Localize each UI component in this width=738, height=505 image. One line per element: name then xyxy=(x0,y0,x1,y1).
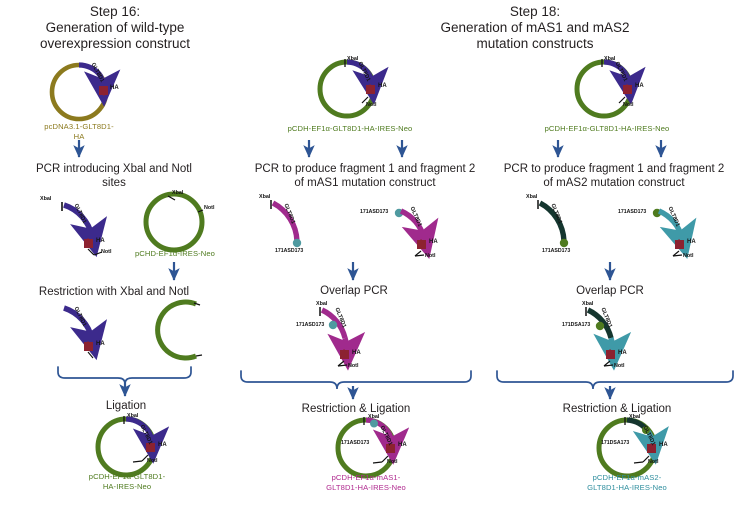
step-label-text: Overlap PCR xyxy=(546,284,674,298)
plasmid-pchd-ef1a-ires-neo xyxy=(146,194,203,250)
mutation-label-overlap: 171ASD173 xyxy=(296,322,324,328)
plasmid-label-line: HA xyxy=(19,132,139,142)
fragment-glt8d1-ha-col1 xyxy=(62,202,102,255)
ha-tag-label: HA xyxy=(635,83,644,89)
step-label-text: PCR to produce fragment 1 and fragment 2… xyxy=(489,162,738,190)
mutation-label-final: 171DSA173 xyxy=(601,440,629,446)
column-1-title: Step 16: Generation of wild-type overexp… xyxy=(0,4,230,52)
fragment-2-mas1 xyxy=(395,209,426,256)
plasmid-label-line: pCDH-EF1α-GLT8D1- xyxy=(61,472,193,482)
ha-tag-label: HA xyxy=(158,442,167,448)
site-label-xbal: Xbal xyxy=(368,414,379,420)
ha-tag-label: HA xyxy=(378,83,387,89)
site-label-xbal: Xbal xyxy=(582,301,593,307)
site-label-xbal: Xbal xyxy=(127,413,138,419)
site-label-notl: Notl xyxy=(387,459,397,465)
figure-canvas: Step 16: Generation of wild-type overexp… xyxy=(0,0,738,505)
restricted-backbone-col1 xyxy=(158,302,202,358)
site-label-notl: Notl xyxy=(366,102,376,108)
step-label-restriction-ligation-mas1: Restriction & Ligation xyxy=(286,402,426,416)
plasmid-label-line: HA-IRES-Neo xyxy=(61,482,193,492)
ha-tag-label: HA xyxy=(618,350,627,356)
site-label-xbal: Xbal xyxy=(604,56,615,62)
step-label-pcr-xbal-notl: PCR introducing Xbal and Notl sites xyxy=(0,162,230,190)
gene-label: GLT8D1 xyxy=(139,424,154,446)
step-label-restriction-ligation-mas2: Restriction & Ligation xyxy=(547,402,687,416)
gene-label: GLT8D1 xyxy=(409,206,423,228)
plasmid-label-col3-source: pCDH-EF1α-GLT8D1-HA-IRES-Neo xyxy=(519,124,695,134)
plasmid-label-line: pCDH-EF1α-GLT8D1-HA-IRES-Neo xyxy=(519,124,695,134)
site-label-notl: Notl xyxy=(101,249,111,255)
column-2-title: Step 18: Generation of mAS1 and mAS2 mut… xyxy=(370,4,700,52)
mutation-label-fragment2: 171ASD173 xyxy=(618,209,646,215)
fragment-2-mas2 xyxy=(653,209,684,256)
plasmid-label-mas2-final: pCDH-EF1α-mAS2- GLT8D1-HA-IRES-Neo xyxy=(557,473,697,492)
plasmid-label-pchd: pCHD-EF1α-IRES-Neo xyxy=(119,249,231,259)
mutation-label-fragment1: 171ASD173 xyxy=(275,248,303,254)
gene-label: GLT8D1 xyxy=(642,425,657,447)
title-line: Generation of mAS1 and mAS2 xyxy=(370,20,700,36)
plasmid-label-line: pCDH-EF1α-mAS1- xyxy=(296,473,436,483)
gene-label: GLT8D1 xyxy=(599,307,612,329)
plasmid-label-line: pCDH-EF1α-mAS2- xyxy=(557,473,697,483)
gene-label: GLT8D1 xyxy=(90,62,105,83)
ha-tag-label: HA xyxy=(96,341,105,347)
gene-label: GLT8D1 xyxy=(73,203,88,225)
step-label-text: PCR introducing Xbal and Notl sites xyxy=(0,162,230,190)
mutation-label-fragment2: 171ASD173 xyxy=(360,209,388,215)
title-line: Step 16: xyxy=(0,4,230,20)
ha-tag-label: HA xyxy=(96,238,105,244)
site-label-xbal: Xbal xyxy=(259,194,270,200)
plasmid-label-line: pcDNA3.1-GLT8D1- xyxy=(19,122,139,132)
title-line: overexpression construct xyxy=(0,36,230,52)
site-label-notl: Notl xyxy=(614,363,624,369)
ha-tag-label: HA xyxy=(687,239,696,245)
gene-label: GLT8D1 xyxy=(614,61,629,83)
site-label-xbal: Xbal xyxy=(526,194,537,200)
site-label-notl: Notl xyxy=(147,458,157,464)
site-label-notl: Notl xyxy=(683,253,693,259)
title-line: Generation of wild-type xyxy=(0,20,230,36)
step-label-text: Ligation xyxy=(60,399,192,413)
gene-label: GLT8D1 xyxy=(282,203,295,225)
site-label-notl: Notl xyxy=(348,363,358,369)
plasmid-label-final-col1: pCDH-EF1α-GLT8D1- HA-IRES-Neo xyxy=(61,472,193,491)
plasmid-label-line: GLT8D1-HA-IRES-Neo xyxy=(557,483,697,493)
ha-tag-label: HA xyxy=(352,350,361,356)
step-label-pcr-mas1: PCR to produce fragment 1 and fragment 2… xyxy=(240,162,490,190)
title-line: Step 18: xyxy=(370,4,700,20)
plasmid-label-col2-source: pCDH-EF1α-GLT8D1-HA-IRES-Neo xyxy=(262,124,438,134)
site-label-notl: Notl xyxy=(425,253,435,259)
site-label-xbal: Xbal xyxy=(40,196,51,202)
step-label-text: Restriction & Ligation xyxy=(286,402,426,416)
plasmid-label-line: GLT8D1-HA-IRES-Neo xyxy=(296,483,436,493)
gene-label: GLT8D1 xyxy=(379,425,394,447)
mutation-label-final: 171ASD173 xyxy=(341,440,369,446)
gene-label: GLT8D1 xyxy=(357,61,372,83)
step-label-text: Restriction with Xbal and Notl xyxy=(0,285,230,299)
ha-tag-label: HA xyxy=(398,442,407,448)
site-label-notl: Notl xyxy=(623,102,633,108)
plasmid-label-line: pCHD-EF1α-IRES-Neo xyxy=(119,249,231,259)
gene-label: GLT8D1 xyxy=(73,306,88,328)
plasmid-pcdh-glt8d1-final xyxy=(98,416,155,475)
site-label-notl: Notl xyxy=(648,459,658,465)
plasmid-label-line: pCDH-EF1α-GLT8D1-HA-IRES-Neo xyxy=(262,124,438,134)
step-label-overlap-pcr-mas1: Overlap PCR xyxy=(290,284,418,298)
step-label-pcr-mas2: PCR to produce fragment 1 and fragment 2… xyxy=(489,162,738,190)
step-label-text: Restriction & Ligation xyxy=(547,402,687,416)
title-line: mutation constructs xyxy=(370,36,700,52)
site-label-notl: Notl xyxy=(204,205,214,211)
step-label-text: Overlap PCR xyxy=(290,284,418,298)
plasmid-label-mas1-final: pCDH-EF1α-mAS1- GLT8D1-HA-IRES-Neo xyxy=(296,473,436,492)
mutation-label-overlap: 171DSA173 xyxy=(562,322,590,328)
ha-tag-label: HA xyxy=(659,442,668,448)
gene-label: GLT8D1 xyxy=(549,203,562,225)
site-label-xbal: Xbal xyxy=(347,56,358,62)
step-label-overlap-pcr-mas2: Overlap PCR xyxy=(546,284,674,298)
plasmid-mas1-final xyxy=(338,417,395,476)
step-label-restriction: Restriction with Xbal and Notl xyxy=(0,285,230,299)
step-label-ligation: Ligation xyxy=(60,399,192,413)
gene-label: GLT8D1 xyxy=(667,206,681,228)
plasmid-label-pcdna31: pcDNA3.1-GLT8D1- HA xyxy=(19,122,139,141)
overlap-product-mas1 xyxy=(320,307,349,366)
site-label-xbal: Xbal xyxy=(316,301,327,307)
site-label-xbal: Xbal xyxy=(629,414,640,420)
gene-label: GLT8D1 xyxy=(333,307,346,329)
ha-tag-label: HA xyxy=(110,85,119,91)
ha-tag-label: HA xyxy=(429,239,438,245)
step-label-text: PCR to produce fragment 1 and fragment 2… xyxy=(240,162,490,190)
overlap-product-mas2 xyxy=(586,307,615,366)
mutation-label-fragment1: 171ASD173 xyxy=(542,248,570,254)
site-label-xbal: Xbal xyxy=(172,190,183,196)
